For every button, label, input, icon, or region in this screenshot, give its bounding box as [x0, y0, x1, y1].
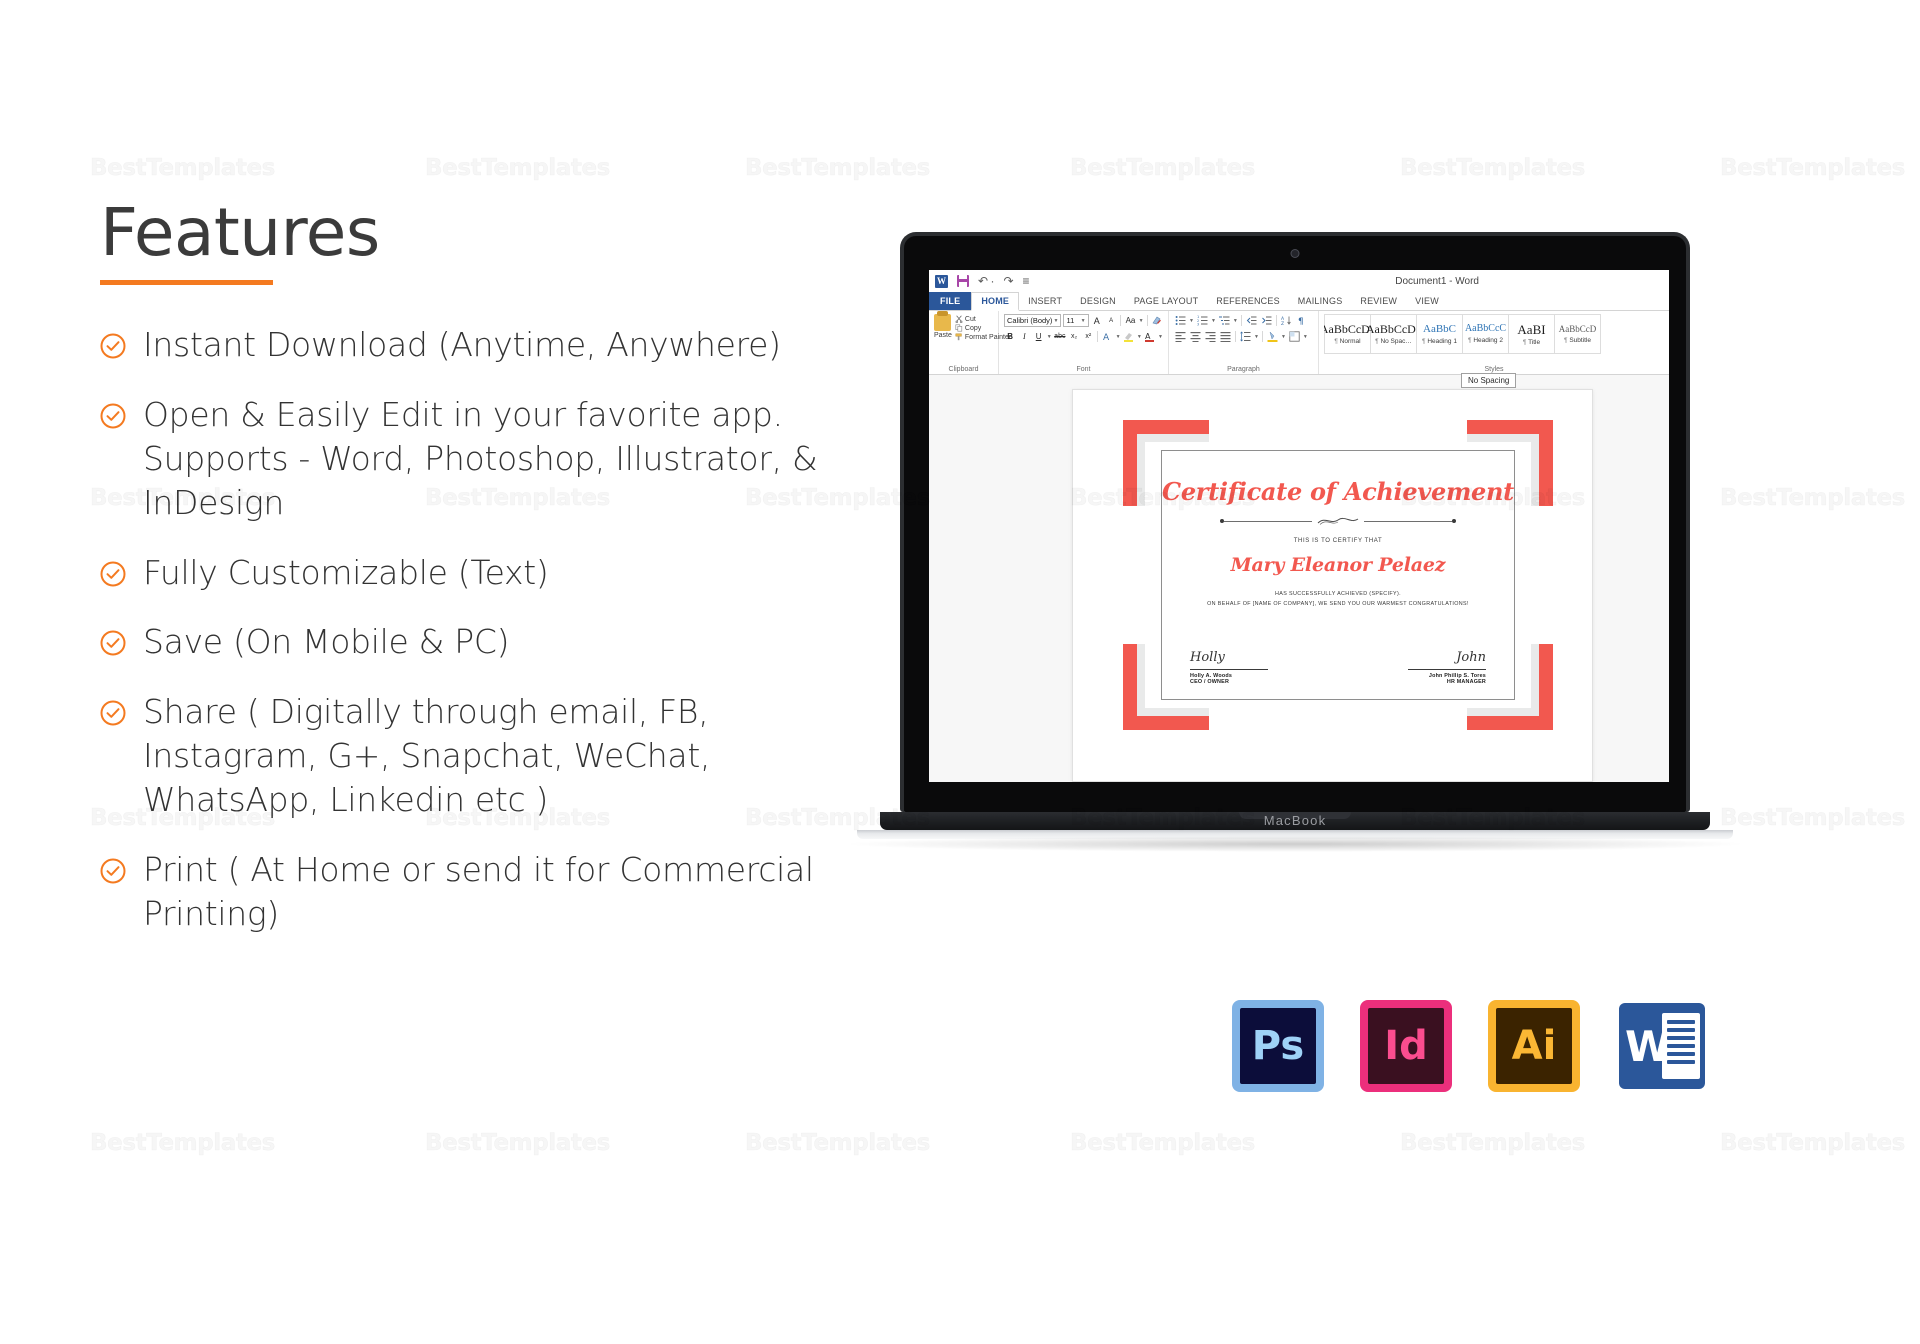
watermark-text: BestTemplates — [1070, 1130, 1255, 1156]
save-icon[interactable] — [957, 275, 969, 287]
watermark-text: BestTemplates — [1400, 155, 1585, 181]
feature-label: Instant Download (Anytime, Anywhere) — [143, 323, 781, 367]
photoshop-icon[interactable]: Ps — [1232, 1000, 1324, 1092]
feature-label: Fully Customizable (Text) — [143, 551, 548, 595]
certificate-body-line1: HAS SUCCESSFULLY ACHIEVED (SPECIFY). — [1162, 589, 1514, 599]
align-right-icon[interactable] — [1204, 330, 1217, 343]
sort-icon[interactable]: AZ — [1280, 314, 1293, 327]
feature-item: Fully Customizable (Text) — [100, 551, 900, 595]
italic-button[interactable]: I — [1018, 330, 1030, 343]
ribbon-tab-home[interactable]: HOME — [971, 292, 1019, 311]
style-heading-1[interactable]: AaBbC¶ Heading 1 — [1416, 314, 1463, 354]
grow-font-button[interactable]: A — [1091, 314, 1103, 327]
check-circle-icon — [100, 333, 126, 359]
watermark-text: BestTemplates — [1720, 805, 1905, 831]
supported-apps-row: PsIdAiW — [1232, 1000, 1708, 1092]
watermark-text: BestTemplates — [90, 1130, 275, 1156]
font-size-value: 11 — [1066, 316, 1074, 325]
feature-list: Instant Download (Anytime, Anywhere)Open… — [100, 323, 900, 936]
svg-text:Z: Z — [1281, 321, 1284, 326]
feature-label: Save (On Mobile & PC) — [143, 620, 509, 664]
divider-line-left — [1224, 521, 1312, 522]
svg-text:A: A — [1103, 333, 1110, 342]
text-highlight-icon[interactable] — [1123, 330, 1135, 343]
laptop-brand-label: MacBook — [880, 813, 1710, 828]
certificate-recipient-name: Mary Eleanor Pelaez — [1162, 554, 1514, 576]
laptop-base: MacBook — [880, 812, 1710, 830]
page-title: Features — [100, 200, 900, 266]
scissors-icon — [955, 315, 963, 323]
ribbon-tab-file[interactable]: FILE — [929, 292, 971, 310]
signature-script-right: John — [1366, 651, 1486, 666]
watermark-text: BestTemplates — [1720, 485, 1905, 511]
feature-item: Share ( Digitally through email, FB, Ins… — [100, 690, 900, 822]
italic-label: I — [1023, 332, 1026, 341]
style-normal[interactable]: AaBbCcDc¶ Normal — [1324, 314, 1371, 354]
font-group-label: Font — [999, 366, 1168, 373]
strikethrough-button[interactable]: abc — [1054, 330, 1066, 343]
style-name: ¶ Normal — [1334, 338, 1360, 345]
increase-indent-icon[interactable] — [1260, 314, 1273, 327]
shading-icon[interactable] — [1266, 330, 1279, 343]
certificate-intro-text: THIS IS TO CERTIFY THAT — [1162, 538, 1514, 544]
style-subtitle[interactable]: AaBbCcD¶ Subtitle — [1554, 314, 1601, 354]
watermark-text: BestTemplates — [745, 1130, 930, 1156]
watermark-text: BestTemplates — [1070, 155, 1255, 181]
check-circle-icon — [100, 700, 126, 726]
style-sample: AaBbCcD — [1559, 325, 1597, 334]
underline-button[interactable]: U — [1033, 330, 1045, 343]
ribbon-tab-references[interactable]: REFERENCES — [1207, 292, 1289, 310]
cut-label: Cut — [965, 316, 976, 323]
features-panel: Features Instant Download (Anytime, Anyw… — [100, 200, 900, 962]
font-color-icon[interactable]: A — [1144, 330, 1156, 343]
watermark-text: BestTemplates — [1720, 1130, 1905, 1156]
style-name: ¶ Subtitle — [1564, 337, 1591, 344]
document-canvas[interactable]: Certificate of Achievement — [929, 375, 1669, 782]
signature-role-left: CEO / OWNER — [1190, 679, 1310, 685]
ribbon-tab-strip[interactable]: FILEHOMEINSERTDESIGNPAGE LAYOUTREFERENCE… — [929, 292, 1669, 311]
ribbon-group-styles: AaBbCcDc¶ NormalAaBbCcDc¶ No Spac…AaBbC¶… — [1319, 311, 1669, 374]
feature-label: Print ( At Home or send it for Commercia… — [143, 848, 888, 936]
check-circle-icon — [100, 630, 126, 656]
strike-label: abc — [1054, 333, 1065, 340]
multilevel-list-icon[interactable] — [1218, 314, 1231, 327]
document-page[interactable]: Certificate of Achievement — [1072, 389, 1593, 782]
undo-icon[interactable]: ↶ · — [978, 275, 994, 287]
clear-formatting-icon[interactable] — [1151, 314, 1163, 327]
indesign-icon[interactable]: Id — [1360, 1000, 1452, 1092]
certificate-inner-frame: Certificate of Achievement — [1161, 450, 1515, 700]
bold-label: B — [1007, 332, 1013, 341]
feature-item: Open & Easily Edit in your favorite app.… — [100, 393, 900, 525]
redo-icon[interactable]: ↷ — [1003, 275, 1013, 287]
illustrator-icon[interactable]: Ai — [1488, 1000, 1580, 1092]
ribbon-tab-design[interactable]: DESIGN — [1071, 292, 1125, 310]
certificate-title: Certificate of Achievement — [1162, 477, 1514, 506]
style-name: ¶ Title — [1523, 339, 1540, 346]
align-left-icon[interactable] — [1174, 330, 1187, 343]
grow-font-label: A — [1094, 316, 1100, 326]
shrink-font-label: A — [1109, 318, 1113, 324]
feature-item: Save (On Mobile & PC) — [100, 620, 900, 664]
signature-block-right: John John Phillip S. Tores HR MANAGER — [1366, 651, 1486, 685]
font-name-combobox[interactable]: Calibri (Body) ▼ — [1004, 314, 1061, 327]
style-no-spac[interactable]: AaBbCcDc¶ No Spac… — [1370, 314, 1417, 354]
bold-button[interactable]: B — [1004, 330, 1016, 343]
styles-group-label: Styles — [1319, 366, 1669, 373]
change-case-label: Aa — [1126, 316, 1136, 325]
text-effects-icon[interactable]: A — [1101, 330, 1113, 343]
ribbon-tab-insert[interactable]: INSERT — [1019, 292, 1071, 310]
check-circle-icon — [100, 858, 126, 884]
paste-label: Paste — [934, 332, 952, 339]
feature-item: Print ( At Home or send it for Commercia… — [100, 848, 900, 936]
ribbon-tab-view[interactable]: VIEW — [1406, 292, 1448, 310]
certificate-signatures: Holly Holly A. Woods CEO / OWNER John Jo — [1190, 651, 1486, 685]
signature-script-left: Holly — [1190, 651, 1310, 666]
sup-label: x² — [1085, 333, 1091, 340]
line-spacing-icon[interactable] — [1239, 330, 1252, 343]
svg-text:A: A — [1145, 332, 1151, 341]
svg-text:¶: ¶ — [1298, 317, 1304, 326]
watermark-text: BestTemplates — [425, 155, 610, 181]
subscript-button[interactable]: x₂ — [1068, 330, 1080, 343]
ribbon-group-paragraph: ▼ 123 ▼ ▼ AZ ¶ — [1169, 311, 1319, 374]
ribbon-tab-page-layout[interactable]: PAGE LAYOUT — [1125, 292, 1207, 310]
show-formatting-marks-icon[interactable]: ¶ — [1295, 314, 1308, 327]
style-name: ¶ No Spac… — [1375, 338, 1412, 345]
watermark-text: BestTemplates — [425, 1130, 610, 1156]
watermark-text: BestTemplates — [90, 155, 275, 181]
illustrator-icon-letters: Ai — [1496, 1008, 1572, 1084]
certificate-body: HAS SUCCESSFULLY ACHIEVED (SPECIFY). ON … — [1162, 589, 1514, 610]
feature-label: Share ( Digitally through email, FB, Ins… — [143, 690, 888, 822]
justify-icon[interactable] — [1219, 330, 1232, 343]
clipboard-group-label: Clipboard — [929, 366, 998, 373]
feature-label: Open & Easily Edit in your favorite app.… — [143, 393, 888, 525]
signature-block-left: Holly Holly A. Woods CEO / OWNER — [1190, 651, 1310, 685]
flourish-icon — [1317, 515, 1359, 527]
copy-label: Copy — [965, 325, 981, 332]
customize-qat-icon[interactable]: ≡ — [1023, 275, 1030, 287]
superscript-button[interactable]: x² — [1082, 330, 1094, 343]
ribbon[interactable]: Paste Cut Copy — [929, 311, 1669, 375]
style-sample: AaBbC — [1423, 324, 1456, 335]
laptop-lid: W ↶ · ↷ ≡ Document1 - Word FILEHOMEINSER… — [900, 232, 1690, 812]
word-icon-tile: W — [1619, 1003, 1705, 1089]
style-tooltip: No Spacing — [1461, 373, 1516, 388]
style-sample: AaBbCcDc — [1366, 323, 1421, 335]
paste-button[interactable]: Paste — [934, 314, 952, 339]
word-icon[interactable]: W — [1616, 1000, 1708, 1092]
font-size-combobox[interactable]: 11 ▼ — [1063, 314, 1088, 327]
laptop-screen: W ↶ · ↷ ≡ Document1 - Word FILEHOMEINSER… — [929, 270, 1669, 782]
change-case-button[interactable]: Aa — [1124, 314, 1136, 327]
watermark-text: BestTemplates — [1720, 155, 1905, 181]
align-center-icon[interactable] — [1189, 330, 1202, 343]
signature-rule-left — [1190, 669, 1268, 670]
signature-role-right: HR MANAGER — [1366, 679, 1486, 685]
style-name: ¶ Heading 2 — [1468, 337, 1503, 344]
copy-icon — [955, 324, 963, 332]
photoshop-icon-letters: Ps — [1240, 1008, 1316, 1084]
style-heading-2[interactable]: AaBbCcC¶ Heading 2 — [1462, 314, 1509, 354]
styles-gallery[interactable]: AaBbCcDc¶ NormalAaBbCcDc¶ No Spac…AaBbC¶… — [1324, 314, 1669, 354]
ribbon-tab-mailings[interactable]: MAILINGS — [1289, 292, 1352, 310]
check-circle-icon — [100, 403, 126, 429]
watermark-text: BestTemplates — [745, 155, 930, 181]
underline-label: U — [1036, 332, 1042, 341]
certificate-body-line2: ON BEHALF OF [NAME OF COMPANY], WE SEND … — [1162, 599, 1514, 609]
paragraph-group-label: Paragraph — [1169, 366, 1318, 373]
style-title[interactable]: AaBI¶ Title — [1508, 314, 1555, 354]
style-sample: AaBI — [1517, 323, 1545, 336]
ribbon-tab-review[interactable]: REVIEW — [1351, 292, 1406, 310]
watermark-text: BestTemplates — [1400, 1130, 1585, 1156]
divider-dot-right — [1452, 519, 1456, 523]
word-icon-document — [1662, 1013, 1700, 1079]
slide-canvas: Features Instant Download (Anytime, Anyw… — [0, 0, 1920, 1344]
ribbon-group-clipboard: Paste Cut Copy — [929, 311, 999, 374]
webcam-icon — [1292, 250, 1299, 257]
svg-text:3: 3 — [1197, 323, 1199, 327]
indesign-icon-letters: Id — [1368, 1008, 1444, 1084]
shrink-font-button[interactable]: A — [1105, 314, 1117, 327]
window-title: Document1 - Word — [1395, 276, 1669, 287]
title-underline-rule — [100, 280, 273, 285]
decrease-indent-icon[interactable] — [1245, 314, 1258, 327]
laptop-shadow — [840, 836, 1750, 852]
style-sample: AaBbCcC — [1465, 324, 1506, 334]
format-painter-icon — [955, 333, 963, 341]
feature-item: Instant Download (Anytime, Anywhere) — [100, 323, 900, 367]
signature-rule-right — [1408, 669, 1486, 670]
sub-label: x₂ — [1071, 333, 1077, 340]
ribbon-group-font: Calibri (Body) ▼ 11 ▼ A A Aa ▼ — [999, 311, 1169, 374]
word-logo-icon: W — [935, 275, 948, 288]
numbered-list-icon[interactable]: 123 — [1196, 314, 1209, 327]
certificate-divider — [1162, 515, 1514, 527]
font-name-value: Calibri (Body) — [1007, 316, 1052, 325]
bullet-list-icon[interactable] — [1174, 314, 1187, 327]
check-circle-icon — [100, 561, 126, 587]
style-name: ¶ Heading 1 — [1422, 338, 1457, 345]
borders-icon[interactable] — [1288, 330, 1301, 343]
divider-line-right — [1364, 521, 1452, 522]
paste-icon — [934, 314, 951, 331]
word-quick-access-toolbar[interactable]: W ↶ · ↷ ≡ Document1 - Word — [929, 270, 1669, 292]
macbook-mockup: W ↶ · ↷ ≡ Document1 - Word FILEHOMEINSER… — [880, 232, 1710, 832]
certificate-artwork: Certificate of Achievement — [1123, 420, 1553, 730]
